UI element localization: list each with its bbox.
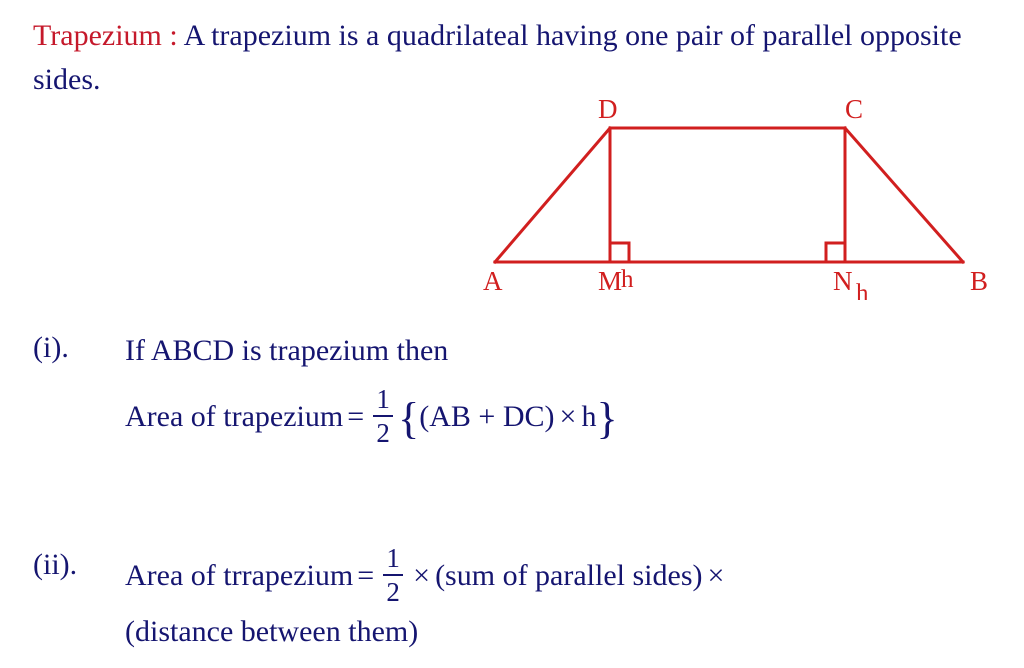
formula-i-denominator: 2 <box>373 419 393 447</box>
formula-ii-times: × <box>413 559 430 593</box>
formula-ii-expression: (sum of parallel sides) <box>435 559 702 593</box>
formula-i: Area of trapezium = 1 2 { (AB + DC) × h … <box>125 386 618 448</box>
formula-ii-fraction: 1 2 <box>383 544 403 606</box>
formula-i-lhs: Area of trapezium <box>125 400 343 434</box>
right-angle-at-N-icon <box>826 243 845 262</box>
vertex-label-M: M <box>598 266 622 296</box>
formula-i-expression: (AB + DC) <box>419 400 554 434</box>
formula-ii-numerator: 1 <box>383 544 403 572</box>
vertex-label-B: B <box>970 266 988 296</box>
formula-i-fraction-bar <box>373 415 393 417</box>
formula-i-equals: = <box>347 400 364 434</box>
term-trapezium: Trapezium <box>33 19 162 52</box>
height-label-left: h <box>621 266 634 293</box>
formula-ii: Area of trrapezium = 1 2 × (sum of paral… <box>125 545 729 607</box>
vertex-label-D: D <box>598 94 618 124</box>
formula-ii-fraction-bar <box>383 574 403 576</box>
formula-ii-times-2: × <box>707 559 724 593</box>
formula-ii-equals: = <box>357 559 374 593</box>
vertex-label-A: A <box>483 266 503 296</box>
trapezium-diagram: A B C D M N h h <box>455 85 1015 300</box>
formula-i-fraction: 1 2 <box>373 385 393 447</box>
formula-ii-denominator: 2 <box>383 578 403 606</box>
formula-i-numerator: 1 <box>373 385 393 413</box>
side-AD <box>495 128 610 262</box>
formula-ii-lhs: Area of trrapezium <box>125 559 353 593</box>
formula-i-close-brace: } <box>596 404 617 434</box>
item-i-statement: If ABCD is trapezium then <box>125 328 448 374</box>
formula-i-open-brace: { <box>398 404 419 434</box>
vertex-label-N: N <box>833 266 853 296</box>
slide-canvas: Trapezium : A trapezium is a quadrilatea… <box>0 0 1024 668</box>
formula-i-times: × <box>560 400 577 434</box>
term-colon: : <box>162 19 184 52</box>
formula-ii-continuation: (distance between them) <box>125 615 418 649</box>
right-angle-at-M-icon <box>610 243 629 262</box>
item-ii-marker: (ii). <box>33 545 77 585</box>
side-CB <box>845 128 963 262</box>
height-label-right: h <box>856 280 869 300</box>
vertex-label-C: C <box>845 94 863 124</box>
formula-i-variable: h <box>581 400 596 434</box>
item-i-marker: (i). <box>33 328 69 368</box>
